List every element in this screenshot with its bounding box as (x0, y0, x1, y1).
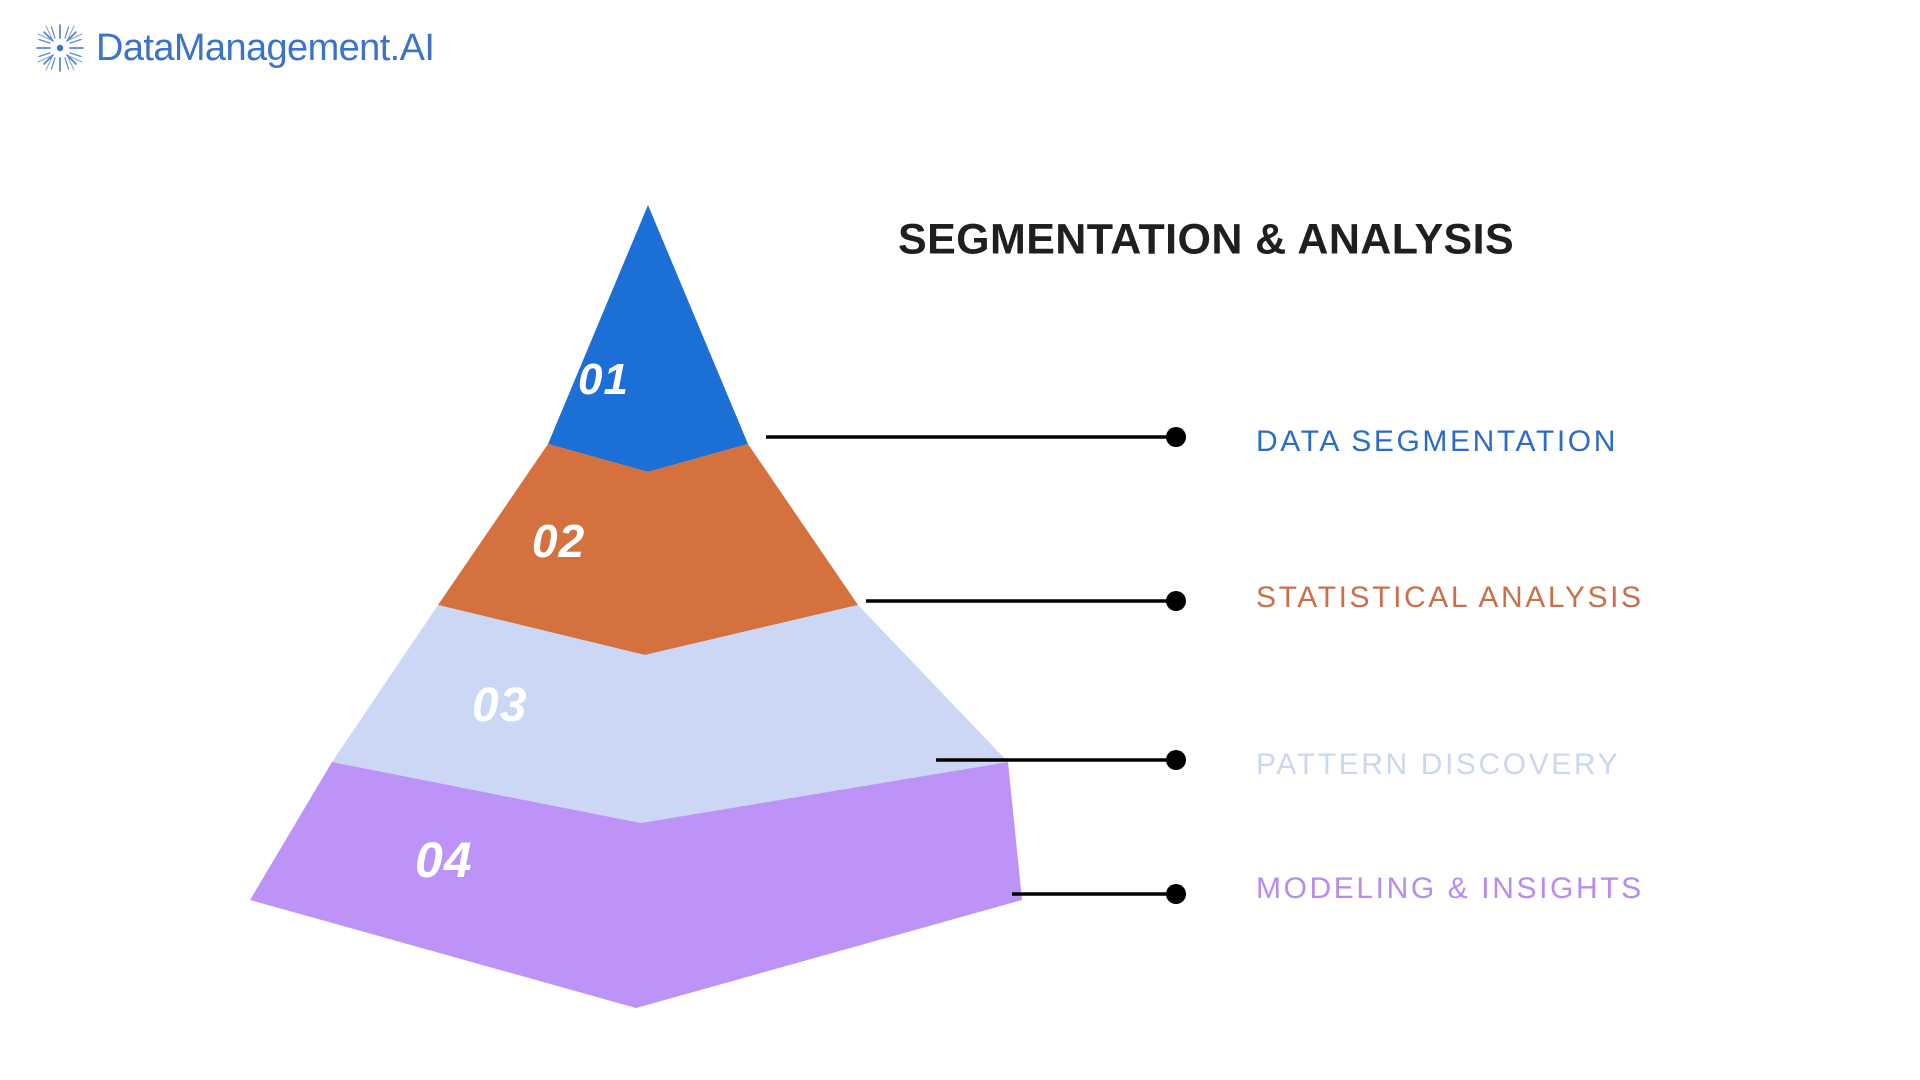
diagram-canvas: DataManagement.AI SEGMENTATION & ANALYSI… (0, 0, 1920, 1080)
layer-number-2: 02 (532, 518, 585, 564)
pyramid-layer-1[interactable] (548, 205, 748, 472)
layer-number-1: 01 (578, 358, 629, 402)
layer-label-pattern-discovery[interactable]: PATTERN DISCOVERY (1256, 750, 1620, 780)
pyramid-diagram (0, 0, 1920, 1080)
connector-4 (1012, 884, 1186, 904)
page-title: SEGMENTATION & ANALYSIS (898, 216, 1514, 265)
layer-number-4: 04 (415, 835, 473, 885)
connector-dot-2 (1166, 591, 1186, 611)
connector-1 (766, 427, 1186, 447)
connector-dot-1 (1166, 427, 1186, 447)
brand-name: DataManagement.AI (96, 29, 434, 67)
layer-number-3: 03 (472, 682, 527, 730)
pyramid-layer-3[interactable] (332, 605, 1008, 823)
connector-3 (936, 750, 1186, 770)
pyramid-layer-2[interactable] (438, 444, 858, 655)
layer-label-statistical-analysis[interactable]: STATISTICAL ANALYSIS (1256, 583, 1644, 613)
pyramid-layer-4[interactable] (250, 762, 1022, 1008)
layer-label-modeling-insights[interactable]: MODELING & INSIGHTS (1256, 874, 1644, 904)
starburst-icon (34, 22, 86, 74)
brand-logo[interactable]: DataManagement.AI (34, 22, 434, 74)
layer-label-data-segmentation[interactable]: DATA SEGMENTATION (1256, 427, 1618, 457)
connector-2 (866, 591, 1186, 611)
connector-dot-3 (1166, 750, 1186, 770)
connector-dot-4 (1166, 884, 1186, 904)
